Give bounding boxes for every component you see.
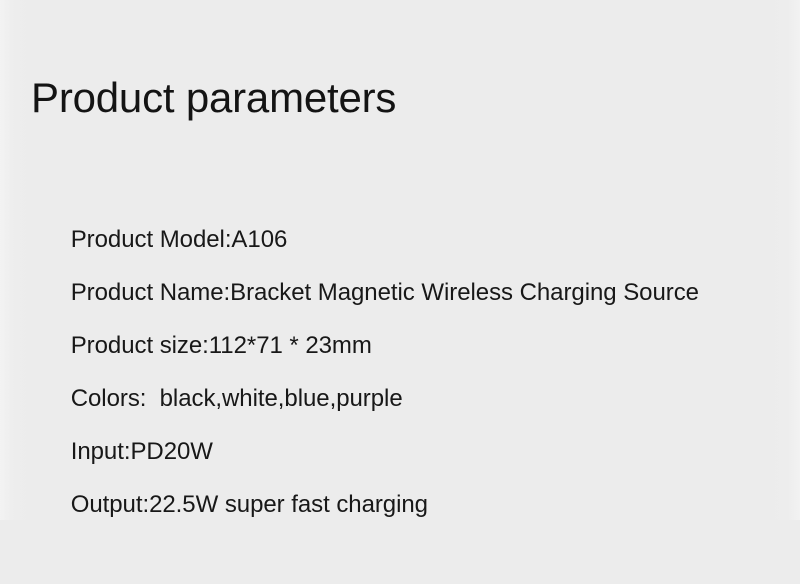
spec-list: Product Model:A106 Product Name:Bracket …: [31, 160, 771, 478]
page-title: Product parameters: [31, 73, 396, 123]
list-item: Product Model:A106: [31, 160, 771, 213]
spec-row-text: Colors: black,white,blue,purple: [71, 385, 403, 412]
spec-row-text: Product size:112*71 * 23mm: [71, 332, 372, 359]
spec-row-text: Output:22.5W super fast charging: [71, 491, 428, 518]
product-parameters-panel: Product parameters Product Model:A106 Pr…: [0, 0, 800, 520]
spec-row-text: Input:PD20W: [71, 438, 213, 465]
spec-row-text: Product Model:A106: [71, 226, 288, 253]
spec-row-text: Product Name:Bracket Magnetic Wireless C…: [71, 279, 699, 306]
